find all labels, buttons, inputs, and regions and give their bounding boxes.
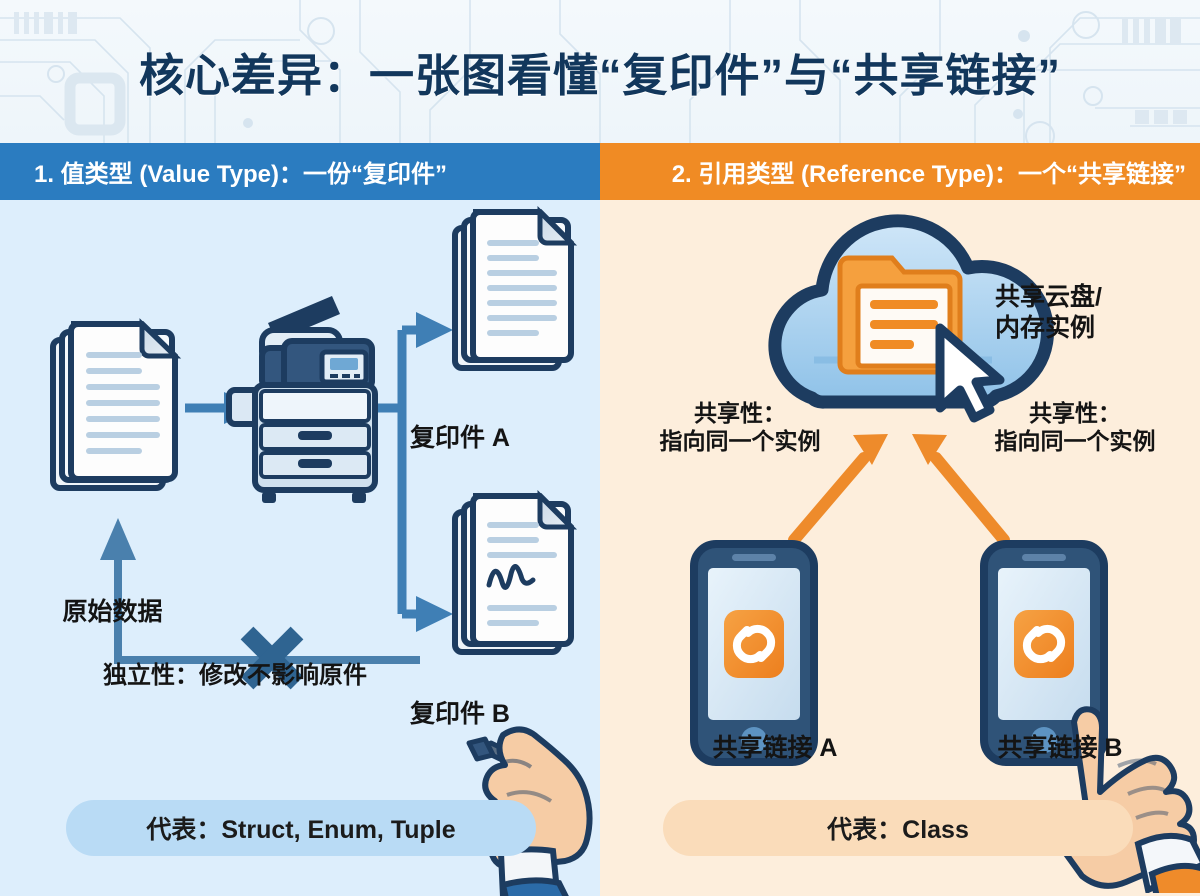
header-banner: 核心差异：一张图看懂“复印件”与“共享链接”	[0, 0, 1200, 143]
arrow-head-to-copy-a	[416, 312, 453, 348]
label-shared-right-line1: 共享性：	[955, 399, 1195, 427]
original-document-stack	[53, 324, 175, 488]
footer-pill-reference-type-label: 代表：Class	[827, 810, 969, 846]
label-shared-right-line2: 指向同一个实例	[955, 427, 1195, 455]
panel-right-header-label: 2. 引用类型 (Reference Type)：一个“共享链接”	[672, 154, 1186, 189]
label-cloud-line2: 内存实例	[995, 313, 1185, 344]
panel-reference-type: 2. 引用类型 (Reference Type)：一个“共享链接”	[600, 143, 1200, 896]
label-copy-b: 复印件 B	[335, 699, 585, 730]
footer-pill-reference-type: 代表：Class	[663, 800, 1133, 856]
panel-value-type: 1. 值类型 (Value Type)：一份“复印件”	[0, 143, 600, 896]
panel-right-header: 2. 引用类型 (Reference Type)：一个“共享链接”	[600, 143, 1200, 200]
panel-left-header-label: 1. 值类型 (Value Type)：一份“复印件”	[34, 154, 447, 189]
hand-tapping-icon	[1040, 648, 1200, 893]
label-shared-left-line2: 指向同一个实例	[620, 427, 860, 455]
label-copy-a: 复印件 A	[335, 423, 585, 454]
photocopier-icon	[229, 296, 375, 503]
arrow-head-to-copy-b	[416, 596, 453, 632]
label-cloud-instance: 共享云盘/ 内存实例	[995, 282, 1185, 343]
label-cloud-line1: 共享云盘/	[995, 282, 1185, 313]
copy-a-document-stack	[455, 212, 571, 368]
label-shared-right: 共享性： 指向同一个实例	[955, 399, 1195, 455]
page-title: 核心差异：一张图看懂“复印件”与“共享链接”	[0, 0, 1200, 143]
label-original-data: 原始数据	[0, 597, 225, 628]
label-shared-left-line1: 共享性：	[620, 399, 860, 427]
panel-left-header: 1. 值类型 (Value Type)：一份“复印件”	[0, 143, 600, 200]
label-link-a: 共享链接 A	[645, 733, 905, 764]
label-shared-left: 共享性： 指向同一个实例	[620, 399, 860, 455]
infographic-canvas: 核心差异：一张图看懂“复印件”与“共享链接” 1. 值类型 (Value Typ…	[0, 0, 1200, 896]
label-independence-annotation: 独立性：修改不影响原件	[50, 661, 420, 690]
copy-b-document-stack	[455, 496, 571, 652]
phone-a-icon	[694, 544, 814, 762]
label-link-b: 共享链接 B	[930, 733, 1190, 764]
footer-pill-value-type: 代表：Struct, Enum, Tuple	[66, 800, 536, 856]
footer-pill-value-type-label: 代表：Struct, Enum, Tuple	[146, 810, 455, 846]
